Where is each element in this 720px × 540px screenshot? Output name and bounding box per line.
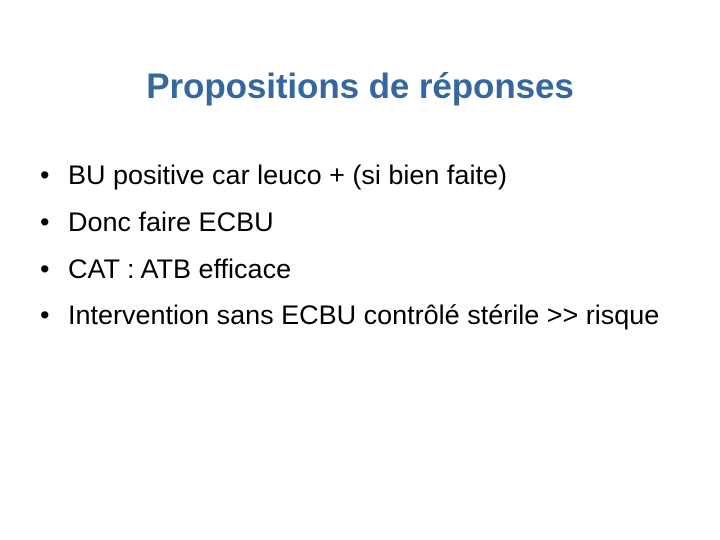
page-title: Propositions de réponses (40, 67, 680, 107)
bullet-list: • BU positive car leuco + (si bien faite… (36, 160, 662, 331)
bullet-point-icon: • (40, 254, 60, 285)
list-item: • Intervention sans ECBU contrôlé stéril… (36, 300, 662, 331)
list-item: • Donc faire ECBU (36, 207, 662, 238)
bullet-point-icon: • (40, 300, 60, 331)
list-item-label: CAT : ATB efficace (68, 254, 662, 285)
list-item: • BU positive car leuco + (si bien faite… (36, 160, 662, 191)
bullet-point-icon: • (40, 160, 60, 191)
bullet-point-icon: • (40, 207, 60, 238)
list-item: • CAT : ATB efficace (36, 254, 662, 285)
list-item-label: BU positive car leuco + (si bien faite) (68, 160, 662, 191)
slide: Propositions de réponses • BU positive c… (0, 0, 720, 540)
list-item-label: Donc faire ECBU (68, 207, 662, 238)
list-item-label: Intervention sans ECBU contrôlé stérile … (68, 300, 662, 331)
slide-body: • BU positive car leuco + (si bien faite… (36, 160, 662, 331)
